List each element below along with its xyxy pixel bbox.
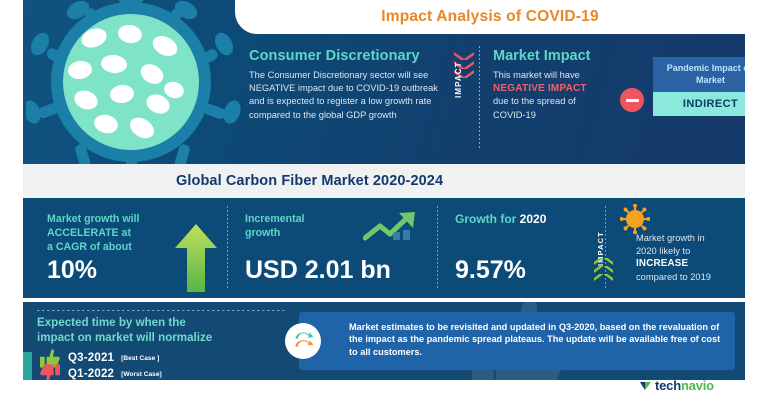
- stat-growth-2020: Growth for 2020 9.57%: [455, 198, 605, 298]
- stat-growth-value: 9.57%: [455, 256, 526, 285]
- stat-incremental: Incremental growth USD 2.01 bn: [245, 198, 437, 298]
- chevron-up-icon: [594, 266, 613, 273]
- expected-time-line2: impact on market will normalize: [37, 331, 292, 346]
- stat-growth-label: Growth for: [455, 212, 516, 226]
- case-best-period: Q3-2021: [68, 352, 114, 364]
- market-impact-line3: COVID-19: [493, 109, 643, 122]
- up-arrow-icon: [175, 224, 217, 292]
- vertical-dotted-divider: [479, 46, 480, 150]
- logo-text-tech: tech: [655, 378, 681, 393]
- stat-cagr-line2: ACCELERATE at: [47, 226, 167, 240]
- page-title: Impact Analysis of COVID-19: [235, 0, 745, 34]
- chevron-up-icon: [594, 258, 613, 265]
- chevron-up-icon: [594, 274, 613, 281]
- callout-box: Market estimates to be revisited and upd…: [299, 312, 735, 370]
- refresh-icon: [285, 323, 321, 359]
- consumer-discretionary-block: Consumer Discretionary The Consumer Disc…: [249, 48, 441, 122]
- dashed-rule: [37, 310, 287, 311]
- technavio-arrow-icon: [640, 380, 652, 392]
- stats-divider: [437, 206, 438, 290]
- expected-time-line1: Expected time by when the: [37, 316, 292, 331]
- stat-cagr: Market growth will ACCELERATE at a CAGR …: [47, 198, 227, 298]
- expected-time-title: Expected time by when the impact on mark…: [37, 316, 292, 345]
- market-impact-line1: This market will have: [493, 69, 643, 82]
- technavio-logo: technavio: [640, 378, 714, 393]
- pandemic-impact-title: Pandemic Impact on Market: [653, 57, 745, 92]
- no-entry-icon: [620, 88, 644, 112]
- stat-incremental-line1: Incremental: [245, 212, 355, 226]
- top-panel: Impact Analysis of COVID-19 Consumer Dis…: [23, 0, 745, 164]
- coronavirus-icon: [26, 0, 241, 164]
- virus-orange-icon: [620, 204, 650, 234]
- right-impact-line2: 2020 likely to: [636, 245, 744, 258]
- case-worst-note: [Worst Case]: [121, 371, 162, 378]
- right-impact-text: Market growth in 2020 likely to INCREASE…: [636, 232, 744, 283]
- stat-incremental-line2: growth: [245, 226, 355, 240]
- case-worst: Q1-2022 [Worst Case]: [39, 364, 162, 380]
- teal-accent-tab: [23, 352, 32, 380]
- thumbs-down-icon: [39, 364, 61, 380]
- trend-up-icon: [363, 210, 421, 244]
- stats-divider: [227, 206, 228, 290]
- pandemic-impact-value: INDIRECT: [653, 92, 745, 116]
- infographic-root: Impact Analysis of COVID-19 Consumer Dis…: [0, 0, 768, 401]
- stat-cagr-line3: a CAGR of about: [47, 240, 167, 254]
- pandemic-impact-card: Pandemic Impact on Market INDIRECT: [653, 57, 745, 116]
- stat-growth-year: 2020: [520, 212, 547, 226]
- right-impact-emphasis: INCREASE: [636, 258, 688, 269]
- stat-cagr-value: 10%: [47, 256, 97, 285]
- impact-label-left: IMPACT: [454, 61, 463, 98]
- logo-text-navio: navio: [681, 378, 714, 393]
- market-impact-heading: Market Impact: [493, 48, 643, 64]
- chevron-down-icon: [453, 52, 475, 60]
- impact-divider-left: IMPACT: [447, 52, 481, 152]
- consumer-discretionary-body: The Consumer Discretionary sector will s…: [249, 69, 441, 122]
- case-best-note: [Best Case ]: [121, 355, 159, 362]
- stat-cagr-line1: Market growth will: [47, 212, 167, 226]
- stat-incremental-value: USD 2.01 bn: [245, 256, 391, 285]
- right-impact-line1: Market growth in: [636, 232, 744, 245]
- callout-text: Market estimates to be revisited and upd…: [349, 321, 721, 358]
- market-impact-block: Market Impact This market will have NEGA…: [493, 48, 643, 122]
- bottom-panel: Expected time by when the impact on mark…: [23, 302, 745, 380]
- right-impact-line3: compared to 2019: [636, 271, 744, 284]
- market-title: Global Carbon Fiber Market 2020-2024: [176, 164, 443, 198]
- consumer-discretionary-heading: Consumer Discretionary: [249, 48, 441, 64]
- case-worst-period: Q1-2022: [68, 368, 114, 380]
